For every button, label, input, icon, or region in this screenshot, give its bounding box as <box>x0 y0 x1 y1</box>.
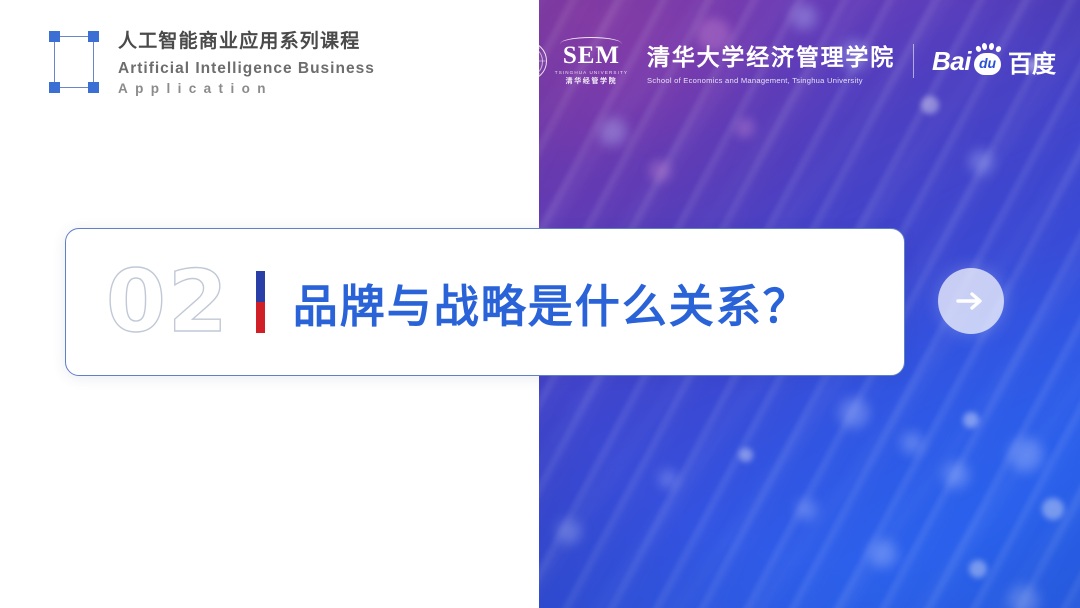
arrow-right-icon <box>956 290 986 312</box>
course-title-en2: Application <box>118 81 375 96</box>
slide-root: 人工智能商业应用系列课程 Artificial Intelligence Bus… <box>0 0 1080 608</box>
course-title-en1: Artificial Intelligence Business <box>118 60 375 78</box>
section-number: 02 <box>106 259 230 345</box>
baidu-wordmark-cn: 百度 <box>1008 44 1056 79</box>
baidu-logo: Bai du 百度 <box>932 44 1056 79</box>
sem-name-block: 清华大学经济管理学院 School of Economics and Manag… <box>647 38 895 85</box>
course-logo: 人工智能商业应用系列课程 Artificial Intelligence Bus… <box>46 24 375 96</box>
partner-logo-lockup: SEM TSINGHUA UNIVERSITY 清华经管学院 清华大学经济管理学… <box>507 38 1056 84</box>
logo-handle-top-left <box>49 31 60 42</box>
next-slide-button[interactable] <box>938 268 1004 334</box>
sem-acronym-block: SEM TSINGHUA UNIVERSITY 清华经管学院 <box>555 37 628 84</box>
course-title-cn: 人工智能商业应用系列课程 <box>118 30 375 54</box>
sem-acronym-cn: 清华经管学院 <box>566 78 618 85</box>
logo-frame <box>54 36 94 88</box>
baidu-wordmark-latin: Bai <box>932 46 971 77</box>
course-logo-text: 人工智能商业应用系列课程 Artificial Intelligence Bus… <box>118 24 375 96</box>
logo-handle-bottom-left <box>49 82 60 93</box>
baidu-du-text: du <box>974 53 1001 74</box>
title-divider-bar <box>256 271 265 333</box>
section-title-card: 02 品牌与战略是什么关系？ <box>65 228 905 376</box>
logo-handle-top-right <box>88 31 99 42</box>
seal-tick <box>508 61 527 62</box>
baidu-paw-icon <box>976 43 1000 53</box>
seal-tick <box>527 61 546 62</box>
sem-name-cn: 清华大学经济管理学院 <box>647 38 895 72</box>
page-title: 品牌与战略是什么关系？ <box>293 270 810 335</box>
tsinghua-seal-icon <box>507 41 547 81</box>
baidu-du-badge: du <box>974 48 1001 75</box>
logo-handle-bottom-right <box>88 82 99 93</box>
sem-name-en: School of Economics and Management, Tsin… <box>647 76 895 85</box>
sem-logo: SEM TSINGHUA UNIVERSITY 清华经管学院 清华大学经济管理学… <box>507 37 895 84</box>
seal-tick <box>526 61 527 80</box>
sem-acronym: SEM <box>563 43 620 68</box>
square-frame-handles-icon <box>46 28 102 96</box>
logo-divider <box>913 44 914 78</box>
sem-acronym-sub: TSINGHUA UNIVERSITY <box>555 71 628 76</box>
